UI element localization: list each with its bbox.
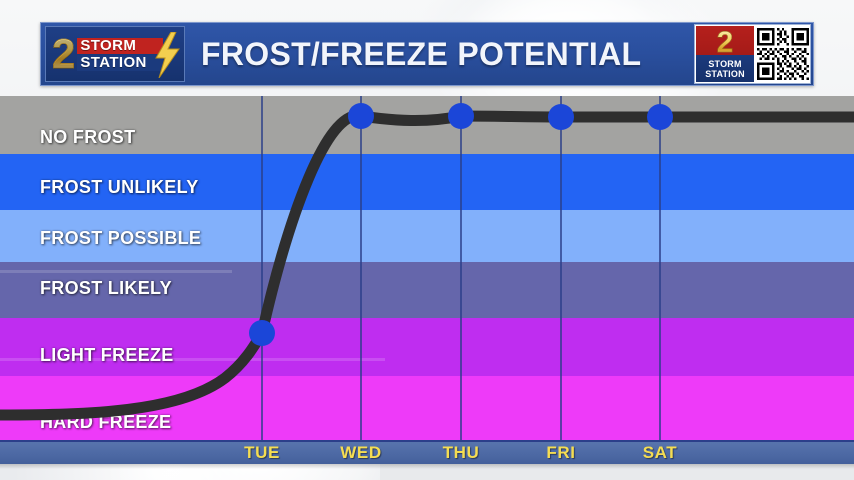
logo-station-text: STATION [77, 55, 162, 71]
data-point-wed[interactable] [348, 103, 374, 129]
header-banner: 2 STORM STATION FROST/FREEZE POTENTIAL 2… [40, 22, 814, 86]
data-point-fri[interactable] [548, 104, 574, 130]
data-point-thu[interactable] [448, 103, 474, 129]
data-point-sat[interactable] [647, 104, 673, 130]
data-point-tue[interactable] [249, 320, 275, 346]
logo-storm-text: STORM [77, 38, 162, 54]
chart-trend-line [0, 96, 854, 440]
axis-label-tue: TUE [244, 443, 280, 463]
axis-label-fri: FRI [546, 443, 575, 463]
weather-graphic-screen: 2 STORM STATION FROST/FREEZE POTENTIAL 2… [0, 0, 854, 480]
storm-station-logo-right: 2 STORM STATION [696, 26, 754, 82]
logo-station-text-right: STATION [705, 69, 745, 79]
qr-code-icon[interactable] [757, 28, 809, 80]
logo-wordmark: STORM STATION [77, 38, 162, 71]
frost-freeze-chart: NO FROSTFROST UNLIKELYFROST POSSIBLEFROS… [0, 96, 854, 440]
axis-label-sat: SAT [643, 443, 678, 463]
axis-drop-shadow [0, 464, 854, 469]
channel-number-right: 2 [717, 27, 734, 59]
channel-number: 2 [52, 33, 75, 75]
header-right-cluster: 2 STORM STATION [694, 24, 811, 84]
logo-storm-text-right: STORM [708, 59, 741, 69]
chart-x-axis: TUEWEDTHUFRISAT [0, 440, 854, 464]
axis-label-thu: THU [443, 443, 480, 463]
page-title: FROST/FREEZE POTENTIAL [185, 36, 694, 73]
storm-station-logo-left: 2 STORM STATION [45, 26, 185, 82]
axis-label-wed: WED [340, 443, 381, 463]
lightning-bolt-icon [154, 32, 180, 78]
